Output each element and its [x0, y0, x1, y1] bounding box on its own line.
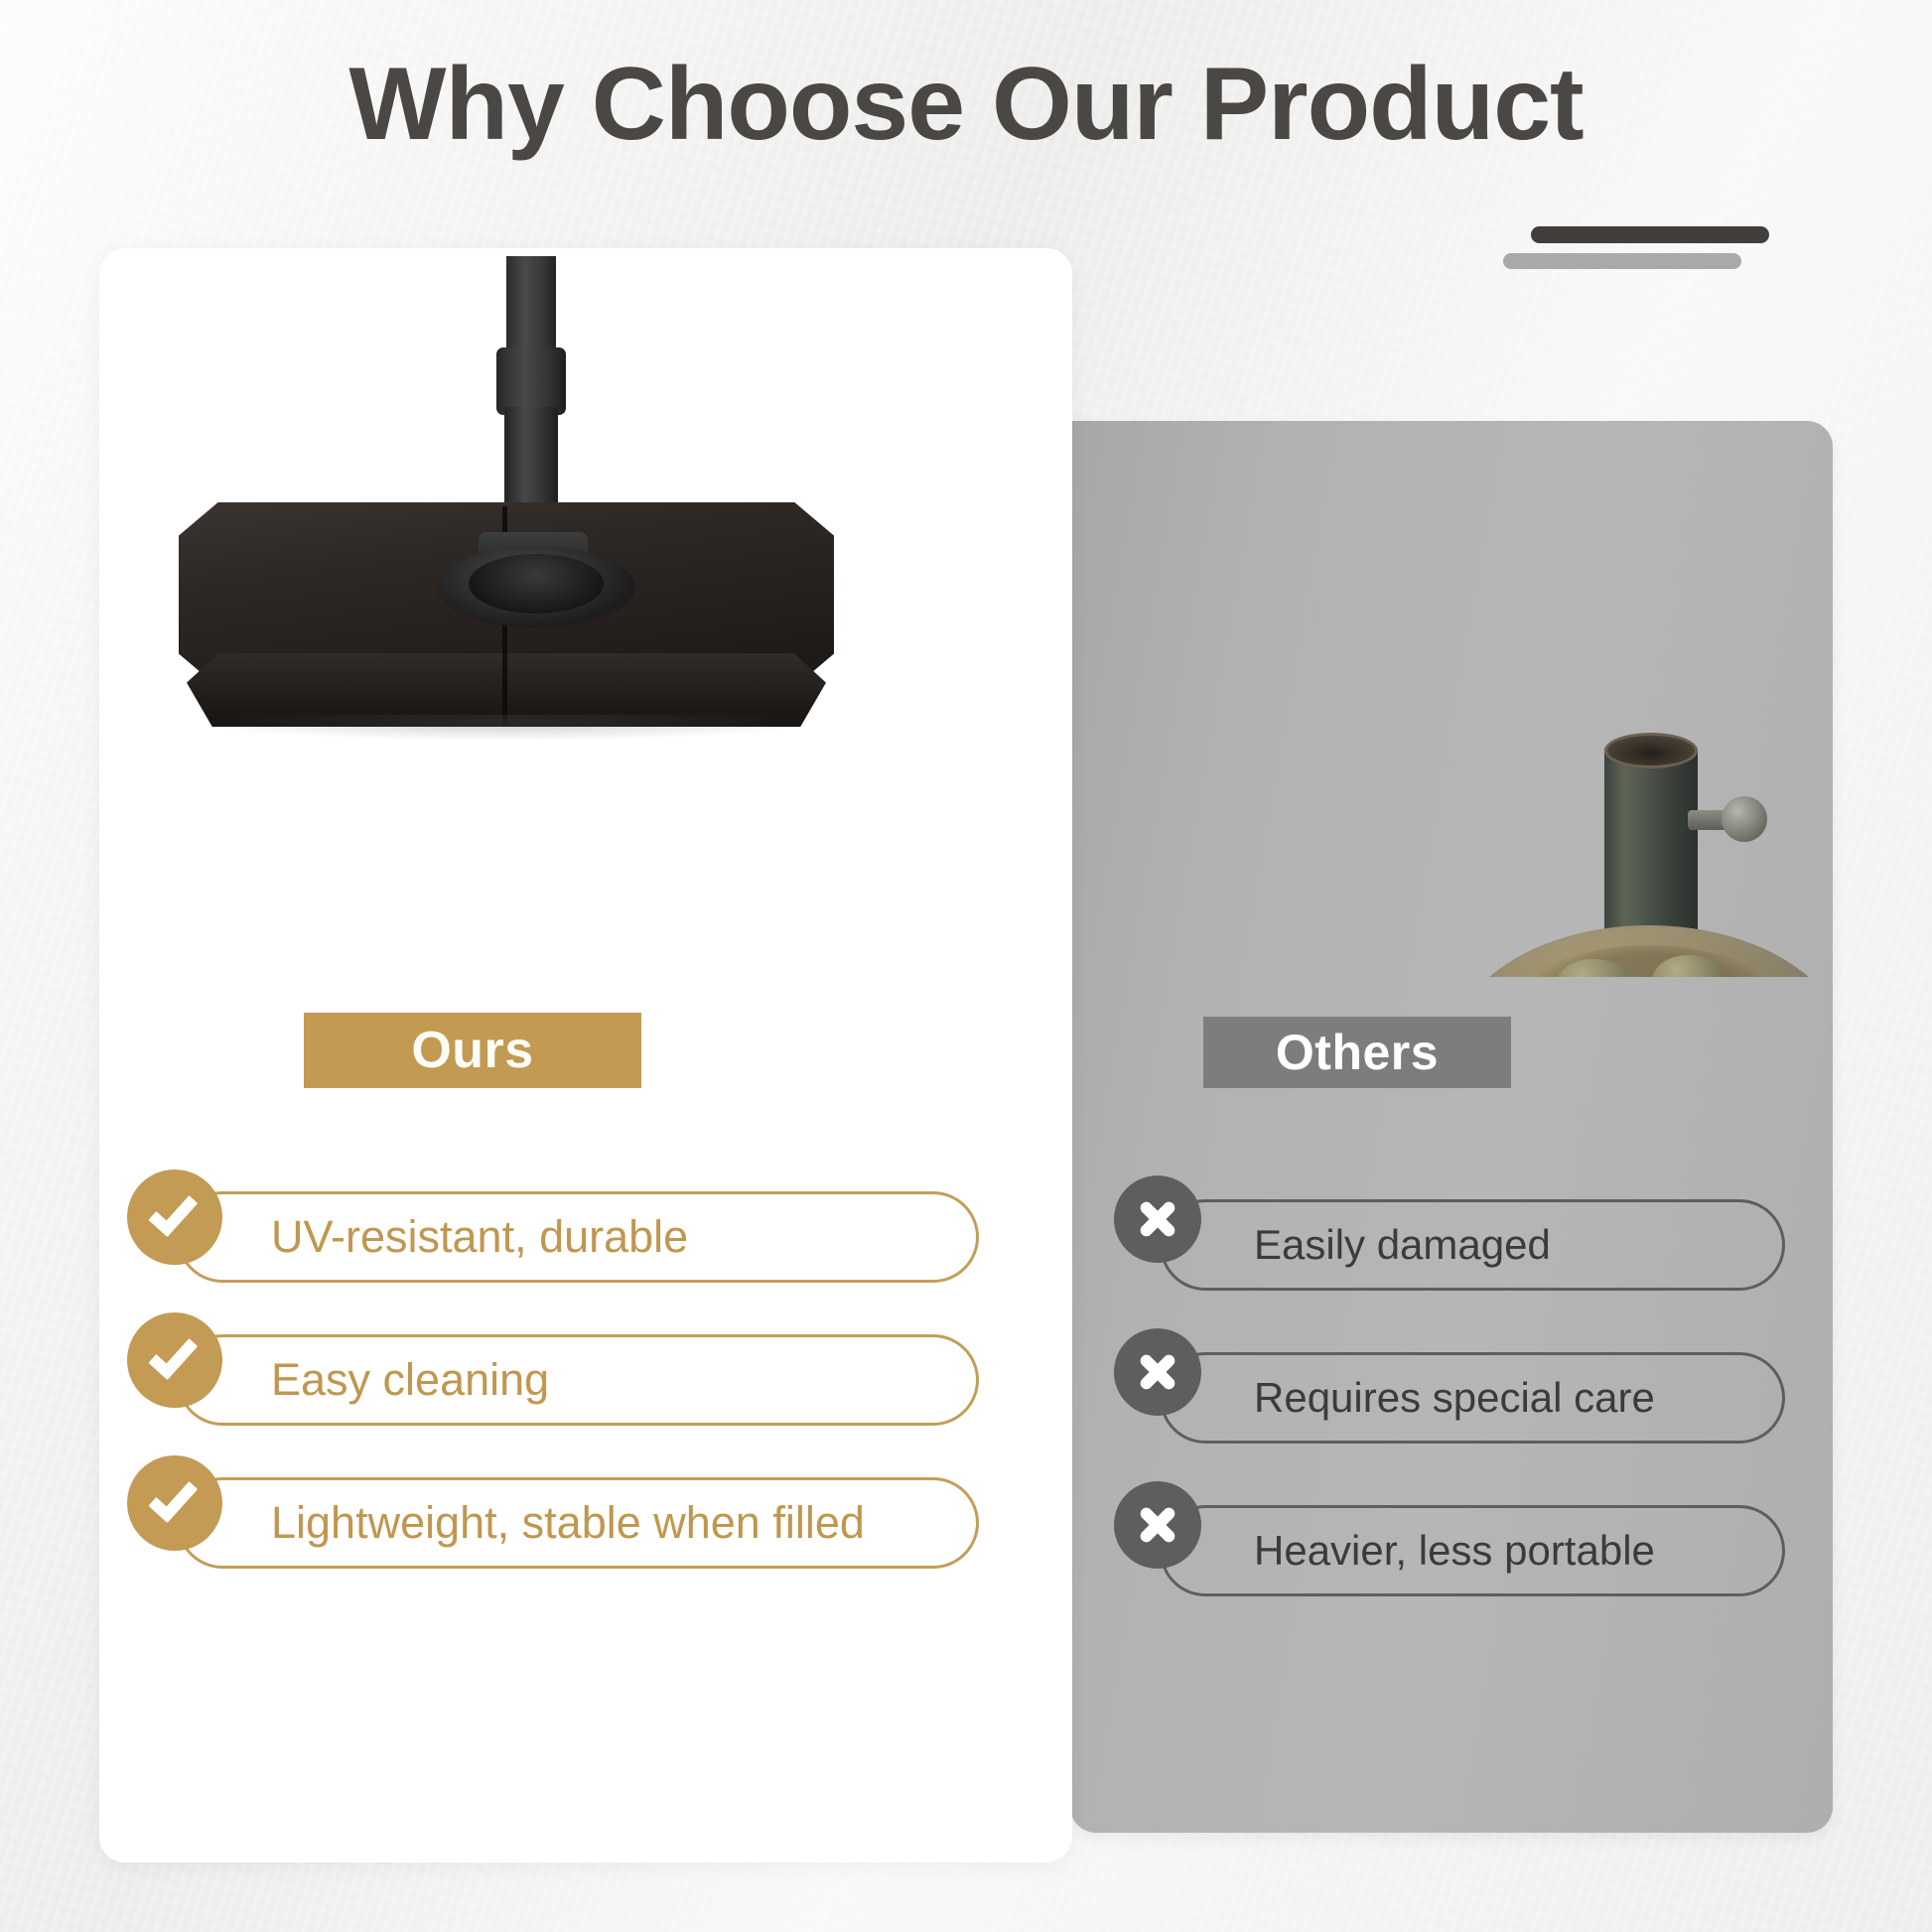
ours-feature-label: UV-resistant, durable — [271, 1210, 688, 1263]
list-item[interactable]: Requires special care — [1160, 1352, 1815, 1444]
ours-product-image — [109, 256, 963, 951]
ours-feature-pill[interactable]: Easy cleaning — [177, 1334, 979, 1426]
others-product-image — [1070, 421, 1833, 977]
list-item[interactable]: Easily damaged — [1160, 1199, 1815, 1291]
others-feature-pill[interactable]: Requires special care — [1160, 1352, 1785, 1444]
list-item[interactable]: Heavier, less portable — [1160, 1505, 1815, 1596]
check-icon — [127, 1170, 222, 1265]
others-feature-list: Easily damaged Requires special care Hea… — [1160, 1199, 1815, 1658]
ours-feature-pill[interactable]: UV-resistant, durable — [177, 1191, 979, 1283]
others-feature-pill[interactable]: Easily damaged — [1160, 1199, 1785, 1291]
ours-feature-label: Lightweight, stable when filled — [271, 1496, 865, 1549]
ours-feature-pill[interactable]: Lightweight, stable when filled — [177, 1477, 979, 1569]
ours-feature-label: Easy cleaning — [271, 1353, 549, 1406]
others-badge: Others — [1203, 1017, 1511, 1088]
cross-icon — [1114, 1175, 1201, 1263]
decorative-bar-light — [1503, 253, 1741, 269]
others-badge-label: Others — [1276, 1024, 1439, 1081]
cross-icon — [1114, 1481, 1201, 1569]
page-title: Why Choose Our Product — [0, 46, 1932, 165]
ours-badge: Ours — [304, 1013, 641, 1088]
list-item[interactable]: Easy cleaning — [177, 1334, 1001, 1426]
cross-icon — [1114, 1328, 1201, 1416]
ours-feature-list: UV-resistant, durable Easy cleaning Ligh… — [177, 1191, 1001, 1620]
ours-badge-label: Ours — [411, 1021, 533, 1080]
list-item[interactable]: Lightweight, stable when filled — [177, 1477, 1001, 1569]
others-feature-label: Requires special care — [1254, 1373, 1655, 1423]
check-icon — [127, 1312, 222, 1408]
decorative-bars — [1479, 226, 1797, 269]
others-feature-pill[interactable]: Heavier, less portable — [1160, 1505, 1785, 1596]
others-feature-label: Heavier, less portable — [1254, 1526, 1655, 1576]
others-feature-label: Easily damaged — [1254, 1220, 1551, 1270]
decorative-bar-dark — [1531, 226, 1769, 243]
check-icon — [127, 1455, 222, 1551]
list-item[interactable]: UV-resistant, durable — [177, 1191, 1001, 1283]
